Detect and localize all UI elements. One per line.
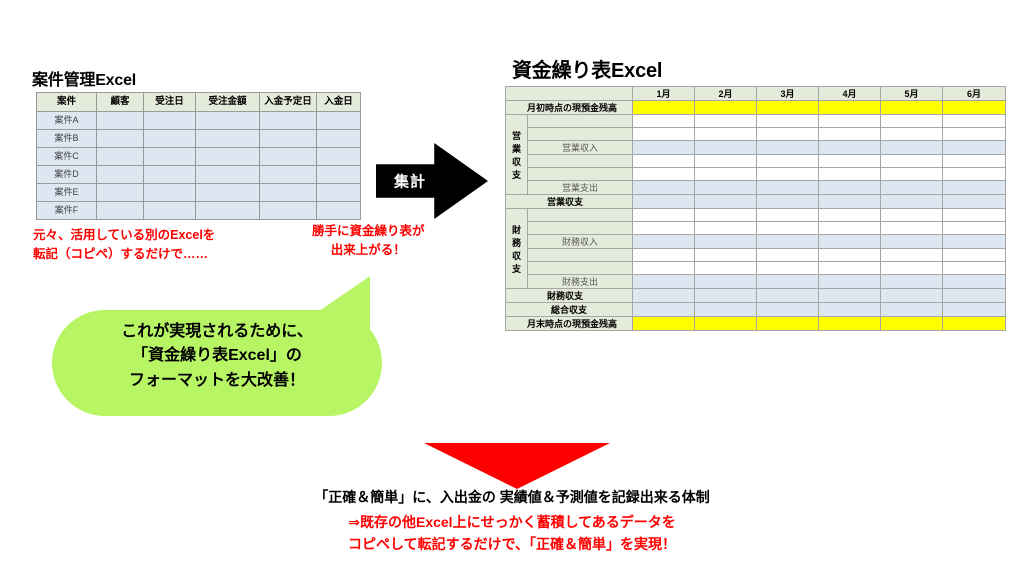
financial-total-row: 財務収支	[506, 289, 1006, 303]
closing-balance-cell-1[interactable]	[633, 317, 695, 331]
cell-case-name[interactable]: 案件A	[37, 112, 97, 130]
financial-cell[interactable]	[695, 262, 757, 275]
table-row[interactable]: 案件B	[37, 130, 361, 148]
cell-due-date[interactable]	[260, 166, 317, 184]
column-header-duedate: 入金予定日	[260, 93, 317, 112]
column-header-customer: 顧客	[97, 93, 144, 112]
side-label-char-2: 業	[512, 144, 521, 154]
financial-income-cell[interactable]	[943, 235, 1006, 249]
cell-customer[interactable]	[97, 184, 144, 202]
operating-cell[interactable]	[943, 128, 1006, 141]
financial-total-label: 財務収支	[506, 289, 633, 303]
financial-cell[interactable]	[881, 222, 943, 235]
cell-case-name[interactable]: 案件D	[37, 166, 97, 184]
financial-expense-cell[interactable]	[633, 275, 695, 289]
financial-total-cell[interactable]	[819, 289, 881, 303]
operating-cell[interactable]	[819, 168, 881, 181]
operating-cell[interactable]	[881, 168, 943, 181]
operating-sub-label-4[interactable]	[528, 168, 633, 181]
section-side-label-operating: 営 業 収 支	[506, 115, 528, 195]
financial-cell[interactable]	[633, 209, 695, 222]
financial-cell[interactable]	[943, 222, 1006, 235]
financial-expense-cell[interactable]	[943, 275, 1006, 289]
month-header-1: 1月	[633, 87, 695, 101]
operating-total-cell[interactable]	[695, 195, 757, 209]
financial-cell[interactable]	[757, 209, 819, 222]
operating-total-cell[interactable]	[757, 195, 819, 209]
financial-cell[interactable]	[757, 262, 819, 275]
financial-total-cell[interactable]	[881, 289, 943, 303]
closing-balance-cell-2[interactable]	[695, 317, 757, 331]
month-header-6: 6月	[943, 87, 1006, 101]
table-row[interactable]: 案件C	[37, 148, 361, 166]
cell-order-amount[interactable]	[196, 112, 260, 130]
bottom-summary-black: 「正確＆簡単」に、入出金の 実績値＆予測値を記録出来る体制	[0, 487, 1024, 507]
cell-due-date[interactable]	[260, 112, 317, 130]
opening-balance-cell-4[interactable]	[819, 101, 881, 115]
cell-due-date[interactable]	[260, 130, 317, 148]
cell-order-amount[interactable]	[196, 130, 260, 148]
financial-cell[interactable]	[881, 209, 943, 222]
financial-cell[interactable]	[881, 249, 943, 262]
operating-income-row: 営業収入	[506, 141, 1006, 155]
financial-row-blank-3	[506, 249, 1006, 262]
financial-income-label: 財務収入	[528, 235, 633, 249]
financial-cell[interactable]	[633, 249, 695, 262]
cell-customer[interactable]	[97, 130, 144, 148]
table-row[interactable]: 案件D	[37, 166, 361, 184]
left-table-title: 案件管理Excel	[32, 66, 136, 90]
column-header-case: 案件	[37, 93, 97, 112]
cell-customer[interactable]	[97, 112, 144, 130]
operating-expense-cell[interactable]	[881, 181, 943, 195]
operating-cell[interactable]	[757, 155, 819, 168]
operating-row-blank-3	[506, 155, 1006, 168]
cashflow-table-title: 資金繰り表Excel	[512, 54, 662, 83]
financial-sub-label-1[interactable]	[528, 209, 633, 222]
operating-income-cell[interactable]	[943, 141, 1006, 155]
operating-cell[interactable]	[757, 115, 819, 128]
side-label-char-3: 収	[512, 251, 521, 261]
cell-case-name[interactable]: 案件C	[37, 148, 97, 166]
operating-expense-row: 営業支出	[506, 181, 1006, 195]
month-header-5: 5月	[881, 87, 943, 101]
grand-total-cell[interactable]	[633, 303, 695, 317]
closing-balance-cell-6[interactable]	[943, 317, 1006, 331]
closing-balance-row: 月末時点の現預金残高	[506, 317, 1006, 331]
operating-cell[interactable]	[633, 115, 695, 128]
operating-cell[interactable]	[633, 168, 695, 181]
cell-paid-date[interactable]	[317, 130, 361, 148]
financial-total-cell[interactable]	[633, 289, 695, 303]
financial-income-cell[interactable]	[881, 235, 943, 249]
cell-due-date[interactable]	[260, 202, 317, 220]
operating-total-cell[interactable]	[881, 195, 943, 209]
middle-annotation-text: 勝手に資金繰り表が 出来上がる！	[312, 222, 425, 261]
operating-cell[interactable]	[633, 128, 695, 141]
cell-due-date[interactable]	[260, 184, 317, 202]
financial-income-cell[interactable]	[757, 235, 819, 249]
cell-case-name[interactable]: 案件B	[37, 130, 97, 148]
corner-header-cell	[506, 87, 633, 101]
financial-cell[interactable]	[881, 262, 943, 275]
closing-balance-cell-3[interactable]	[757, 317, 819, 331]
side-label-char-2: 務	[512, 238, 521, 248]
grand-total-cell[interactable]	[695, 303, 757, 317]
side-label-char-1: 財	[512, 225, 521, 235]
month-header-3: 3月	[757, 87, 819, 101]
bottom-summary-red: ⇒既存の他Excel上にせっかく蓄積してあるデータを コピペして転記するだけで、…	[0, 511, 1024, 555]
financial-cell[interactable]	[695, 249, 757, 262]
financial-sub-label-3[interactable]	[528, 249, 633, 262]
operating-income-cell[interactable]	[695, 141, 757, 155]
table-row[interactable]: 案件F	[37, 202, 361, 220]
project-management-table: 案件 顧客 受注日 受注金額 入金予定日 入金日 案件A 案件B 案件C	[36, 92, 361, 220]
cell-customer[interactable]	[97, 148, 144, 166]
opening-balance-cell-5[interactable]	[881, 101, 943, 115]
operating-row-blank-2	[506, 128, 1006, 141]
closing-balance-cell-5[interactable]	[881, 317, 943, 331]
financial-expense-cell[interactable]	[757, 275, 819, 289]
aggregate-arrow: 集計	[376, 143, 488, 219]
cell-customer[interactable]	[97, 202, 144, 220]
operating-cell[interactable]	[757, 128, 819, 141]
opening-balance-cell-3[interactable]	[757, 101, 819, 115]
financial-cell[interactable]	[695, 209, 757, 222]
operating-cell[interactable]	[695, 115, 757, 128]
financial-cell[interactable]	[633, 262, 695, 275]
operating-expense-cell[interactable]	[695, 181, 757, 195]
side-label-char-3: 収	[512, 157, 521, 167]
cell-order-date[interactable]	[144, 112, 196, 130]
financial-income-cell[interactable]	[819, 235, 881, 249]
opening-balance-row: 月初時点の現預金残高	[506, 101, 1006, 115]
financial-expense-cell[interactable]	[881, 275, 943, 289]
operating-total-cell[interactable]	[633, 195, 695, 209]
operating-total-row: 営業収支	[506, 195, 1006, 209]
financial-cell[interactable]	[819, 209, 881, 222]
cell-order-date[interactable]	[144, 148, 196, 166]
financial-total-cell[interactable]	[695, 289, 757, 303]
table-row[interactable]: 案件E	[37, 184, 361, 202]
operating-income-cell[interactable]	[881, 141, 943, 155]
cell-paid-date[interactable]	[317, 148, 361, 166]
side-label-char-4: 支	[512, 170, 521, 180]
operating-total-label: 営業収支	[506, 195, 633, 209]
operating-sub-label-2[interactable]	[528, 128, 633, 141]
financial-income-cell[interactable]	[633, 235, 695, 249]
financial-cell[interactable]	[819, 262, 881, 275]
cell-order-amount[interactable]	[196, 166, 260, 184]
operating-expense-cell[interactable]	[757, 181, 819, 195]
operating-cell[interactable]	[881, 115, 943, 128]
financial-total-cell[interactable]	[757, 289, 819, 303]
financial-total-cell[interactable]	[943, 289, 1006, 303]
grand-total-cell[interactable]	[943, 303, 1006, 317]
operating-cell[interactable]	[819, 155, 881, 168]
cell-order-date[interactable]	[144, 184, 196, 202]
operating-row-blank-1: 営 業 収 支	[506, 115, 1006, 128]
opening-balance-cell-6[interactable]	[943, 101, 1006, 115]
table-header-row: 案件 顧客 受注日 受注金額 入金予定日 入金日	[37, 93, 361, 112]
table-row[interactable]: 案件A	[37, 112, 361, 130]
opening-balance-cell-1[interactable]	[633, 101, 695, 115]
operating-total-cell[interactable]	[943, 195, 1006, 209]
operating-sub-label-3[interactable]	[528, 155, 633, 168]
financial-cell[interactable]	[819, 222, 881, 235]
financial-cell[interactable]	[757, 249, 819, 262]
column-header-amount: 受注金額	[196, 93, 260, 112]
operating-income-cell[interactable]	[819, 141, 881, 155]
operating-cell[interactable]	[695, 168, 757, 181]
cell-case-name[interactable]: 案件E	[37, 184, 97, 202]
financial-expense-cell[interactable]	[819, 275, 881, 289]
operating-cell[interactable]	[881, 155, 943, 168]
operating-expense-cell[interactable]	[633, 181, 695, 195]
operating-total-cell[interactable]	[819, 195, 881, 209]
section-side-label-financial: 財 務 収 支	[506, 209, 528, 289]
cell-due-date[interactable]	[260, 148, 317, 166]
financial-cell[interactable]	[943, 209, 1006, 222]
financial-income-cell[interactable]	[695, 235, 757, 249]
financial-expense-row: 財務支出	[506, 275, 1006, 289]
cell-paid-date[interactable]	[317, 202, 361, 220]
opening-balance-label: 月初時点の現預金残高	[506, 101, 633, 115]
financial-cell[interactable]	[819, 249, 881, 262]
closing-balance-cell-4[interactable]	[819, 317, 881, 331]
column-header-orderdate: 受注日	[144, 93, 196, 112]
financial-cell[interactable]	[633, 222, 695, 235]
speech-bubble-text: これが実現されるために、 「資金繰り表Excel」の フォーマットを大改善！	[52, 320, 382, 393]
column-header-paiddate: 入金日	[317, 93, 361, 112]
operating-cell[interactable]	[757, 168, 819, 181]
month-header-4: 4月	[819, 87, 881, 101]
cell-case-name[interactable]: 案件F	[37, 202, 97, 220]
operating-sub-label-1[interactable]	[528, 115, 633, 128]
cashflow-table: 1月 2月 3月 4月 5月 6月 月初時点の現預金残高 営 業 収 支	[505, 86, 1006, 331]
operating-cell[interactable]	[943, 155, 1006, 168]
month-header-row: 1月 2月 3月 4月 5月 6月	[506, 87, 1006, 101]
side-label-char-1: 営	[512, 131, 521, 141]
speech-bubble: これが実現されるために、 「資金繰り表Excel」の フォーマットを大改善！	[52, 276, 388, 418]
operating-income-label: 営業収入	[528, 141, 633, 155]
operating-row-blank-4	[506, 168, 1006, 181]
operating-cell[interactable]	[943, 168, 1006, 181]
opening-balance-cell-2[interactable]	[695, 101, 757, 115]
operating-cell[interactable]	[695, 155, 757, 168]
operating-cell[interactable]	[819, 128, 881, 141]
grand-total-row: 総合収支	[506, 303, 1006, 317]
cell-order-date[interactable]	[144, 166, 196, 184]
financial-row-blank-2	[506, 222, 1006, 235]
operating-cell[interactable]	[695, 128, 757, 141]
operating-cell[interactable]	[943, 115, 1006, 128]
grand-total-cell[interactable]	[881, 303, 943, 317]
financial-sub-label-2[interactable]	[528, 222, 633, 235]
cell-order-date[interactable]	[144, 202, 196, 220]
operating-income-cell[interactable]	[633, 141, 695, 155]
side-label-char-4: 支	[512, 264, 521, 274]
financial-cell[interactable]	[943, 262, 1006, 275]
cell-paid-date[interactable]	[317, 166, 361, 184]
financial-row-blank-1: 財 務 収 支	[506, 209, 1006, 222]
operating-expense-label: 営業支出	[528, 181, 633, 195]
cell-order-amount[interactable]	[196, 202, 260, 220]
operating-cell[interactable]	[633, 155, 695, 168]
left-annotation-text: 元々、活用している別のExcelを 転記（コピペ）するだけで……	[33, 226, 215, 265]
financial-cell[interactable]	[943, 249, 1006, 262]
operating-cell[interactable]	[819, 115, 881, 128]
aggregate-arrow-label: 集計	[382, 171, 438, 192]
cell-customer[interactable]	[97, 166, 144, 184]
operating-expense-cell[interactable]	[943, 181, 1006, 195]
grand-total-cell[interactable]	[757, 303, 819, 317]
grand-total-label: 総合収支	[506, 303, 633, 317]
financial-sub-label-4[interactable]	[528, 262, 633, 275]
operating-expense-cell[interactable]	[819, 181, 881, 195]
financial-cell[interactable]	[695, 222, 757, 235]
grand-total-cell[interactable]	[819, 303, 881, 317]
cell-paid-date[interactable]	[317, 184, 361, 202]
financial-income-row: 財務収入	[506, 235, 1006, 249]
financial-expense-cell[interactable]	[695, 275, 757, 289]
month-header-2: 2月	[695, 87, 757, 101]
operating-cell[interactable]	[881, 128, 943, 141]
financial-row-blank-4	[506, 262, 1006, 275]
cell-order-amount[interactable]	[196, 184, 260, 202]
cell-order-amount[interactable]	[196, 148, 260, 166]
down-triangle-icon	[424, 443, 610, 489]
cell-order-date[interactable]	[144, 130, 196, 148]
operating-income-cell[interactable]	[757, 141, 819, 155]
closing-balance-label: 月末時点の現預金残高	[506, 317, 633, 331]
financial-cell[interactable]	[757, 222, 819, 235]
cell-paid-date[interactable]	[317, 112, 361, 130]
financial-expense-label: 財務支出	[528, 275, 633, 289]
